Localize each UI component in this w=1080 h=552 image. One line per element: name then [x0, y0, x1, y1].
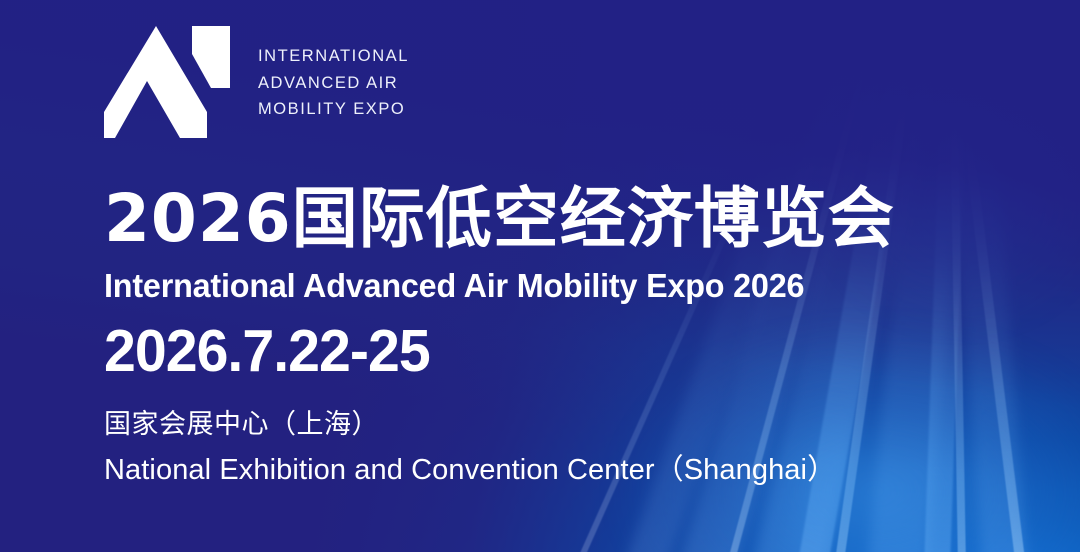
banner-content: 2026国际低空经济博览会 International Advanced Air… — [104, 186, 1004, 488]
event-banner: INTERNATIONAL ADVANCED AIR MOBILITY EXPO… — [0, 0, 1080, 552]
event-date: 2026.7.22-25 — [104, 322, 977, 381]
logo-lockup: INTERNATIONAL ADVANCED AIR MOBILITY EXPO — [104, 26, 409, 138]
double-chevron-m-mark-icon — [104, 26, 230, 138]
logo-wordmark-line-3: MOBILITY EXPO — [258, 96, 409, 123]
logo-wordmark: INTERNATIONAL ADVANCED AIR MOBILITY EXPO — [258, 43, 409, 123]
logo-wordmark-line-2: ADVANCED AIR — [258, 70, 409, 97]
event-title-chinese: 2026国际低空经济博览会 — [104, 186, 1004, 252]
event-title-english: International Advanced Air Mobility Expo… — [104, 269, 973, 304]
event-venue-english: National Exhibition and Convention Cente… — [104, 454, 1004, 487]
logo-wordmark-line-1: INTERNATIONAL — [258, 43, 409, 70]
event-venue-chinese: 国家会展中心（上海） — [104, 409, 1004, 440]
